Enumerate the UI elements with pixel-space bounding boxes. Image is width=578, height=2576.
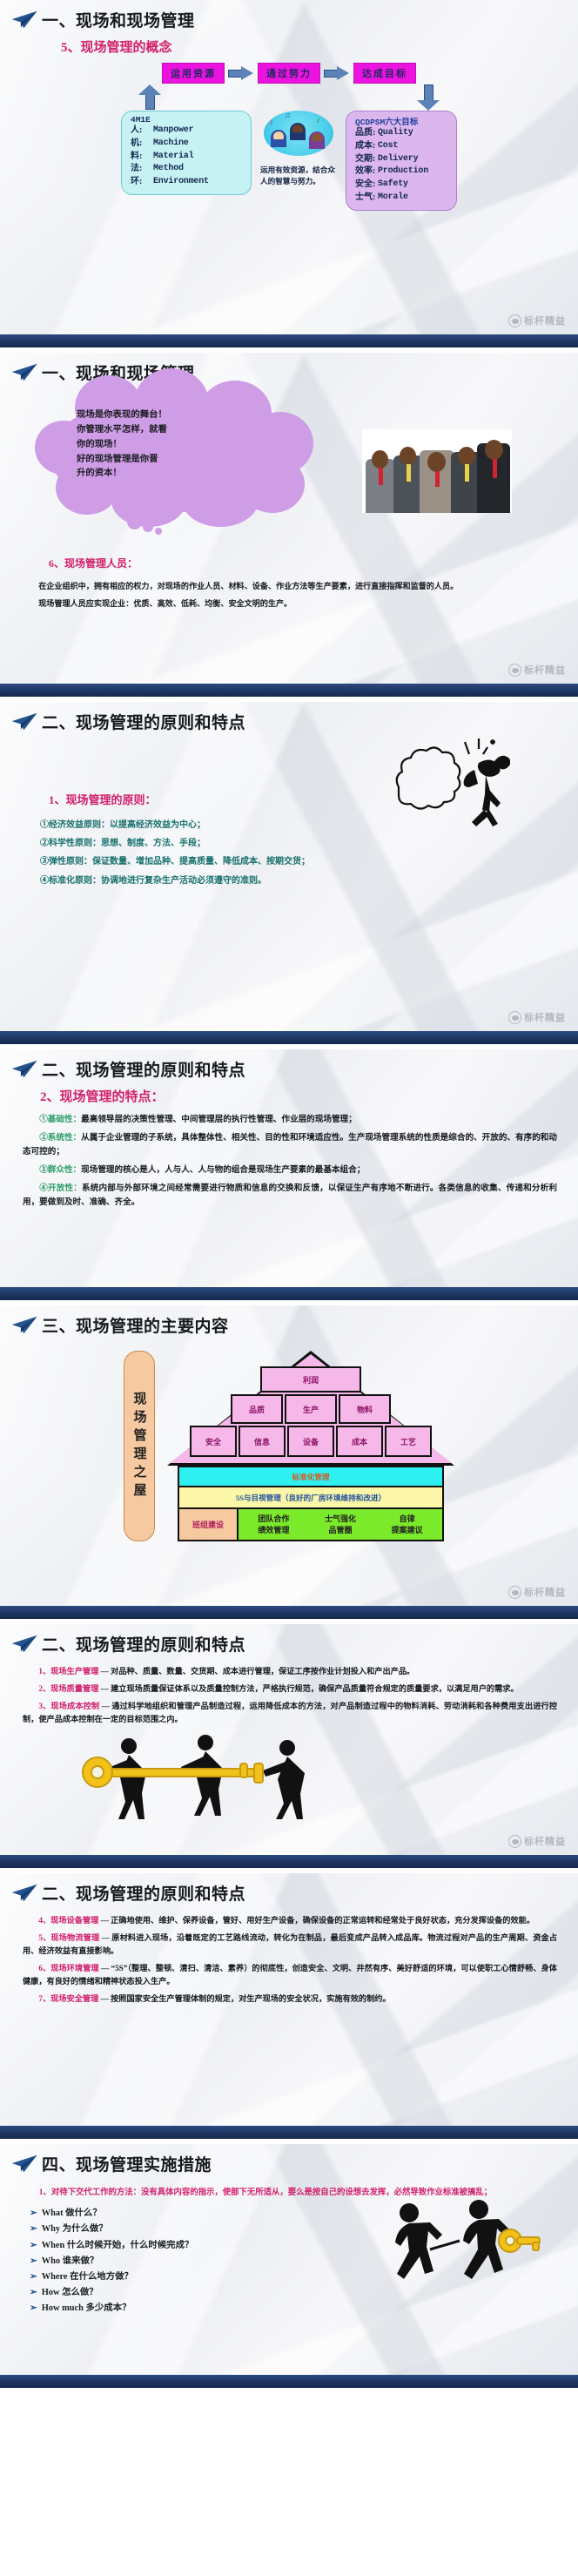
cloud-line: 升的资本！ bbox=[77, 467, 286, 482]
thought-bubble-2 bbox=[143, 522, 153, 532]
arrow-right-icon-2 bbox=[324, 67, 350, 80]
kv-val: Production bbox=[378, 165, 428, 179]
base-col: 士气强化 品管圈 bbox=[307, 1514, 374, 1535]
kv-row: 品质:Quality bbox=[355, 127, 447, 140]
kv-key: 环: bbox=[131, 176, 153, 189]
thought-cloud-text: 现场是你表现的舞台！ 你管理水平怎样，就看 你的现场！ 好的现场管理是你晋 升的… bbox=[77, 408, 286, 482]
page-title: 二、现场管理的原则和特点 bbox=[42, 1632, 245, 1656]
feature-item: ③群众性：现场管理的核心是人，人与人、人与物的组合是现场生产要素的最基本组合； bbox=[23, 1163, 557, 1177]
base-col-bottom: 品管圈 bbox=[307, 1525, 374, 1536]
card-qcdpsm-title: QCDPSM六大目标 bbox=[355, 115, 447, 127]
roof-level-bottom: 安全 信息 设备 成本 工艺 bbox=[167, 1426, 454, 1457]
kv-key: 安全: bbox=[355, 179, 378, 192]
people-illustration-group: ♪ ♫ ♪ 运用有效资源，结合众人的智慧与努力。 bbox=[257, 111, 340, 187]
people-carrying-key-icon bbox=[0, 1730, 578, 1821]
watermark-text: 标杆精益 bbox=[524, 314, 566, 327]
base-col-top: 士气强化 bbox=[307, 1514, 374, 1525]
page-title: 一、现场和现场管理 bbox=[42, 8, 195, 31]
slide-4-footer-bar bbox=[0, 1287, 578, 1300]
paper-plane-icon bbox=[10, 711, 40, 733]
wechat-watermark: 标杆精益 bbox=[508, 663, 566, 677]
person-1 bbox=[271, 130, 286, 147]
paper-plane-icon bbox=[10, 361, 40, 384]
slide-7: 二、现场管理的原则和特点 4、现场设备管理 — 正确地使用、维护、保养设备，管好… bbox=[0, 1873, 578, 2126]
flow-step-3: 达成目标 bbox=[353, 63, 416, 84]
slide-2: 一、现场和现场管理 现场是你表现的舞台！ bbox=[0, 353, 578, 684]
feature-body: 系统内部与外部环境之间经常需要进行物质和信息的交换和反馈，以保证生产有序地不断进… bbox=[23, 1183, 557, 1207]
music-note-icon: ♪ bbox=[269, 118, 273, 127]
list-item-label: How much 多少成本？ bbox=[42, 2303, 131, 2313]
card-qcdpsm: QCDPSM六大目标 品质:Quality 成本:Cost 交期:Deliver… bbox=[346, 111, 457, 211]
kv-key: 成本: bbox=[355, 140, 378, 153]
principle-item: ②科学性原则：思想、制度、方法、手段； bbox=[23, 837, 557, 851]
kv-key: 士气: bbox=[355, 192, 378, 205]
kv-row: 成本:Cost bbox=[355, 140, 447, 153]
slide-7-footer-bar bbox=[0, 2126, 578, 2139]
content-tag: 1、现场生产管理 bbox=[38, 1667, 98, 1676]
slide-4-header: 二、现场管理的原则和特点 bbox=[0, 1049, 578, 1082]
kv-val: Machine bbox=[153, 138, 189, 151]
page-title: 二、现场管理的原则和特点 bbox=[42, 1881, 245, 1905]
slide-5: 三、现场管理的主要内容 现场管理之屋 利润 品质 生产 bbox=[0, 1305, 578, 1606]
kv-row: 安全:Safety bbox=[355, 179, 447, 192]
content-item: 2、现场质量管理 — 建立现场质量保证体系以及质量控制方法，严格执行规范，确保产… bbox=[23, 1682, 557, 1696]
list-item: ➢How much 多少成本？ bbox=[30, 2301, 561, 2316]
content-tag: 6、现场环境管理 bbox=[38, 1964, 98, 1972]
card-4m1e: 4M1E 人:Manpower 机:Machine 料:Material 法:M… bbox=[121, 111, 252, 195]
bullet-arrow-icon: ➢ bbox=[30, 2224, 37, 2234]
base-columns: 团队合作 绩效管理 士气强化 品管圈 自律 提案建议 bbox=[239, 1509, 442, 1540]
running-people-icon bbox=[378, 2199, 543, 2303]
house-roof: 利润 品质 生产 物料 安全 信息 设备 成本 工艺 bbox=[167, 1351, 454, 1466]
content-item: 1、现场生产管理 — 对品种、质量、数量、交货期、成本进行管理，保证工序按作业计… bbox=[23, 1665, 557, 1678]
paper-plane-icon bbox=[10, 1314, 40, 1337]
wechat-watermark: 标杆精益 bbox=[508, 1585, 566, 1599]
flow-step-1: 运用资源 bbox=[162, 63, 225, 84]
watermark-text: 标杆精益 bbox=[524, 663, 566, 677]
watermark-text: 标杆精益 bbox=[524, 1834, 566, 1848]
content-tag: 4、现场设备管理 bbox=[38, 1916, 98, 1925]
slide-2-header: 一、现场和现场管理 bbox=[0, 353, 578, 386]
kv-val: Quality bbox=[378, 127, 413, 140]
base-col-top: 团队合作 bbox=[240, 1514, 307, 1525]
kv-row: 料:Material bbox=[131, 151, 242, 164]
slide-3-header: 二、现场管理的原则和特点 bbox=[0, 702, 578, 735]
kv-key: 法: bbox=[131, 163, 153, 176]
feature-tag: ③群众性： bbox=[39, 1165, 81, 1175]
content-item: 7、现场安全管理 — 按照国家安全生产管理体制的规定，对生产现场的安全状况，实施… bbox=[23, 1993, 557, 2006]
arrow-right-icon bbox=[228, 67, 254, 80]
kv-key: 人: bbox=[131, 125, 153, 138]
thought-cloud-area: 现场是你表现的舞台！ 你管理水平怎样，就看 你的现场！ 好的现场管理是你晋 升的… bbox=[0, 386, 578, 551]
paragraph: 在企业组织中，拥有相应的权力，对现场的作业人员、材料、设备、作业方法等生产要素，… bbox=[23, 580, 557, 593]
base-col-top: 自律 bbox=[373, 1514, 440, 1525]
kv-val: Cost bbox=[378, 140, 398, 153]
kv-key: 机: bbox=[131, 138, 153, 151]
principle-item: ③弹性原则：保证数量、增加品种、提高质量、降低成本、按期交货； bbox=[23, 855, 557, 869]
content-tag: 5、现场物流管理 bbox=[38, 1933, 99, 1942]
content-tag: 3、现场成本控制 bbox=[38, 1702, 99, 1710]
content-item: 4、现场设备管理 — 正确地使用、维护、保养设备，管好、用好生产设备，确保设备的… bbox=[23, 1914, 557, 1927]
slide-4-body: ①基础性：最高领导层的决策性管理、中间管理层的执行性管理、作业层的现场管理； ②… bbox=[0, 1105, 578, 1210]
concept-cards: 4M1E 人:Manpower 机:Machine 料:Material 法:M… bbox=[0, 111, 578, 211]
wechat-icon bbox=[508, 664, 521, 677]
content-body: — 按照国家安全生产管理体制的规定，对生产现场的安全状况，实施有效的制约。 bbox=[101, 1994, 391, 2003]
page-title: 三、现场管理的主要内容 bbox=[42, 1313, 229, 1337]
slide-6-body: 1、现场生产管理 — 对品种、质量、数量、交货期、成本进行管理，保证工序按作业计… bbox=[0, 1657, 578, 1726]
content-item: 6、现场环境管理 — “5S”（整理、整顿、清扫、清洁、素养）的彻底性，创造安全… bbox=[23, 1962, 557, 1988]
roof-level-mid: 品质 生产 物料 bbox=[167, 1394, 454, 1424]
feature-item: ④开放性：系统内部与外部环境之间经常需要进行物质和信息的交换和反馈，以保证生产有… bbox=[23, 1182, 557, 1210]
singing-people-icon: ♪ ♫ ♪ bbox=[259, 111, 339, 165]
slide-4-heading: 2、现场管理的特点： bbox=[0, 1082, 578, 1105]
kv-row: 机:Machine bbox=[131, 138, 242, 151]
bullet-arrow-icon: ➢ bbox=[30, 2208, 37, 2218]
slide-8-footer-bar bbox=[0, 2375, 578, 2388]
list-item-label: Where 在什么地方做？ bbox=[42, 2272, 133, 2282]
kv-row: 士气:Morale bbox=[355, 192, 447, 205]
slide-2-body: 在企业组织中，拥有相应的权力，对现场的作业人员、材料、设备、作业方法等生产要素，… bbox=[0, 570, 578, 610]
slide-7-body: 4、现场设备管理 — 正确地使用、维护、保养设备，管好、用好生产设备，确保设备的… bbox=[0, 1906, 578, 2005]
page-title: 四、现场管理实施措施 bbox=[42, 2152, 212, 2175]
bullet-arrow-icon: ➢ bbox=[30, 2288, 37, 2297]
slide-7-header: 二、现场管理的原则和特点 bbox=[0, 1873, 578, 1906]
kv-row: 法:Method bbox=[131, 163, 242, 176]
feature-item: ②系统性：从属于企业管理的子系统，具体整体性、相关性、目的性和环境适应性。生产现… bbox=[23, 1131, 557, 1159]
base-col: 团队合作 绩效管理 bbox=[240, 1514, 307, 1535]
content-tag: 2、现场质量管理 bbox=[38, 1684, 98, 1693]
slide-1-header: 一、现场和现场管理 bbox=[0, 0, 578, 33]
house-base: 班组建设 团队合作 绩效管理 士气强化 品管圈 bbox=[178, 1509, 444, 1541]
content-body: — 建立现场质量保证体系以及质量控制方法，严格执行规范，确保产品质量符合规定的质… bbox=[101, 1684, 519, 1693]
kv-row: 效率:Production bbox=[355, 165, 447, 179]
kv-val: Delivery bbox=[378, 153, 418, 166]
paper-plane-icon bbox=[10, 1058, 40, 1081]
content-body: — 正确地使用、维护、保养设备，管好、用好生产设备，确保设备的正常运转和经常处于… bbox=[101, 1916, 534, 1925]
flow-step-2: 通过努力 bbox=[258, 63, 320, 84]
band-5s: 5S与目视管理（良好的厂房环境维持和改进） bbox=[178, 1487, 444, 1509]
wechat-icon bbox=[508, 1586, 521, 1599]
feature-body: 现场管理的核心是人，人与人、人与物的组合是现场生产要素的最基本组合； bbox=[81, 1165, 365, 1175]
slide-3: 二、现场管理的原则和特点 1、现场管理的原则： bbox=[0, 702, 578, 1031]
roof-cell: 工艺 bbox=[385, 1426, 432, 1457]
slide-2-heading: 6、现场管理人员： bbox=[0, 551, 578, 570]
businessmen-photo bbox=[362, 429, 512, 513]
bullet-arrow-icon: ➢ bbox=[30, 2272, 37, 2282]
base-col: 自律 提案建议 bbox=[373, 1514, 440, 1535]
arrow-down-icon bbox=[417, 84, 440, 111]
feature-body: 从属于企业管理的子系统，具体整体性、相关性、目的性和环境适应性。生产现场管理系统… bbox=[23, 1133, 557, 1157]
house-pillar: 现场管理之屋 bbox=[124, 1351, 155, 1541]
watermark-text: 标杆精益 bbox=[524, 1585, 566, 1599]
slide-8-header: 四、现场管理实施措施 bbox=[0, 2144, 578, 2177]
slide-5-header: 三、现场管理的主要内容 bbox=[0, 1305, 578, 1339]
paragraph: 现场管理人员应实现企业：优质、高效、低耗、均衡、安全文明的生产。 bbox=[23, 597, 557, 610]
feature-tag: ①基础性： bbox=[39, 1115, 81, 1124]
list-item-label: What 做什么？ bbox=[42, 2208, 102, 2218]
content-body: — “5S”（整理、整顿、清扫、清洁、素养）的彻底性，创造安全、文明、井然有序、… bbox=[23, 1964, 557, 1986]
paper-plane-icon bbox=[10, 1882, 40, 1905]
kv-key: 效率: bbox=[355, 165, 378, 179]
kv-key: 品质: bbox=[355, 127, 378, 140]
kv-val: Safety bbox=[378, 179, 408, 192]
slide-3-footer-bar bbox=[0, 1031, 578, 1044]
base-col-bottom: 提案建议 bbox=[373, 1525, 440, 1536]
slide-8-heading: 1、对待下交代工作的方法：没有具体内容的指示，使部下无所适从，要么是按自己的设想… bbox=[0, 2177, 578, 2200]
kv-row: 环:Environment bbox=[131, 176, 242, 189]
slide-8: 四、现场管理实施措施 1、对待下交代工作的方法：没有具体内容的指示，使部下无所适… bbox=[0, 2144, 578, 2375]
bullet-arrow-icon: ➢ bbox=[30, 2303, 37, 2313]
roof-cell: 安全 bbox=[190, 1426, 237, 1457]
slide-5-footer-bar bbox=[0, 1606, 578, 1619]
kv-key: 交期: bbox=[355, 153, 378, 166]
person-3 bbox=[309, 131, 325, 149]
card-4m1e-title: 4M1E bbox=[131, 115, 242, 125]
wechat-icon bbox=[508, 1835, 521, 1848]
slide-6-header: 二、现场管理的原则和特点 bbox=[0, 1624, 578, 1657]
roof-cell: 生产 bbox=[285, 1394, 337, 1424]
slide-1: 一、现场和现场管理 5、现场管理的概念 运用资源 通过努力 达成目标 bbox=[0, 0, 578, 334]
house-pillar-label: 现场管理之屋 bbox=[131, 1392, 149, 1501]
roof-cell: 设备 bbox=[287, 1426, 334, 1457]
house-diagram: 现场管理之屋 利润 品质 生产 物料 bbox=[0, 1339, 578, 1550]
kv-val: Method bbox=[153, 163, 184, 176]
content-body: — 通过科学地组织和管理产品制造过程，运用降低成本的方法，对产品制造过程中的物料… bbox=[23, 1702, 557, 1723]
page-title: 二、现场管理的原则和特点 bbox=[42, 710, 245, 733]
roof-cell: 信息 bbox=[239, 1426, 286, 1457]
kv-val: Morale bbox=[378, 192, 408, 205]
wechat-icon bbox=[508, 314, 521, 327]
content-body: — 原材料进入现场，沿着既定的工艺路线流动，转化为在制品，最后变成产品转入成品库… bbox=[23, 1933, 557, 1955]
content-body: — 对品种、质量、数量、交货期、成本进行管理，保证工序按作业计划投入和产出产品。 bbox=[101, 1667, 415, 1676]
content-tag: 7、现场安全管理 bbox=[38, 1994, 98, 2003]
slide-4: 二、现场管理的原则和特点 2、现场管理的特点： ①基础性：最高领导层的决策性管理… bbox=[0, 1049, 578, 1287]
list-item-label: Why 为什么做？ bbox=[42, 2224, 108, 2234]
base-col-bottom: 绩效管理 bbox=[240, 1525, 307, 1536]
page-title: 二、现场管理的原则和特点 bbox=[42, 1057, 245, 1081]
principle-item: ④标准化原则：协调地进行复杂生产活动必须遵守的准则。 bbox=[23, 874, 557, 888]
content-item: 3、现场成本控制 — 通过科学地组织和管理产品制造过程，运用降低成本的方法，对产… bbox=[23, 1700, 557, 1726]
house-body: 利润 品质 生产 物料 安全 信息 设备 成本 工艺 bbox=[167, 1351, 454, 1541]
thought-bubble-3 bbox=[155, 528, 162, 535]
feature-item: ①基础性：最高领导层的决策性管理、中间管理层的执行性管理、作业层的现场管理； bbox=[23, 1113, 557, 1127]
band-standardization: 标准化管理 bbox=[178, 1466, 444, 1487]
feature-tag: ④开放性： bbox=[39, 1183, 82, 1193]
cloud-line: 好的现场管理是你晋 bbox=[77, 453, 286, 468]
kv-val: Material bbox=[153, 151, 193, 164]
paper-plane-icon bbox=[10, 9, 40, 31]
cloud-line: 你管理水平怎样，就看 bbox=[77, 423, 286, 438]
kv-val: Environment bbox=[153, 176, 209, 189]
roof-cell: 物料 bbox=[339, 1394, 391, 1424]
arrow-up-icon bbox=[138, 84, 161, 111]
music-note-icon-2: ♫ bbox=[285, 111, 291, 119]
kv-val: Manpower bbox=[153, 125, 193, 138]
kv-row: 人:Manpower bbox=[131, 125, 242, 138]
paper-plane-icon bbox=[10, 1633, 40, 1656]
kv-key: 料: bbox=[131, 151, 153, 164]
watermark-text: 标杆精益 bbox=[524, 1010, 566, 1024]
person-2 bbox=[290, 123, 306, 140]
feature-tag: ②系统性： bbox=[39, 1133, 81, 1143]
bullet-arrow-icon: ➢ bbox=[30, 2256, 37, 2266]
slide-deck: 一、现场和现场管理 5、现场管理的概念 运用资源 通过努力 达成目标 bbox=[0, 0, 578, 2388]
list-item-label: Who 谁来做？ bbox=[42, 2256, 99, 2266]
wechat-icon bbox=[508, 1011, 521, 1024]
paper-plane-icon bbox=[10, 2153, 40, 2175]
wechat-watermark: 标杆精益 bbox=[508, 1834, 566, 1848]
center-note: 运用有效资源，结合众人的智慧与努力。 bbox=[260, 165, 337, 187]
roof-cell-profit: 利润 bbox=[260, 1366, 361, 1393]
list-item-label: How 怎么做？ bbox=[42, 2288, 98, 2297]
music-note-icon-3: ♪ bbox=[316, 116, 320, 125]
wechat-watermark: 标杆精益 bbox=[508, 1010, 566, 1024]
content-item: 5、现场物流管理 — 原材料进入现场，沿着既定的工艺路线流动，转化为在制品，最后… bbox=[23, 1932, 557, 1958]
feature-body: 最高领导层的决策性管理、中间管理层的执行性管理、作业层的现场管理； bbox=[81, 1115, 357, 1124]
flow-diagram: 运用资源 通过努力 达成目标 bbox=[0, 63, 578, 84]
cloud-line: 现场是你表现的舞台！ bbox=[77, 408, 286, 423]
base-team-building: 班组建设 bbox=[179, 1509, 239, 1540]
slide-6: 二、现场管理的原则和特点 1、现场生产管理 — 对品种、质量、数量、交货期、成本… bbox=[0, 1624, 578, 1855]
cloud-line: 你的现场！ bbox=[77, 438, 286, 453]
bullet-arrow-icon: ➢ bbox=[30, 2241, 37, 2250]
thought-bubble-1 bbox=[127, 515, 142, 529]
roof-level-top: 利润 bbox=[167, 1366, 454, 1393]
slide-6-footer-bar bbox=[0, 1855, 578, 1868]
flow-vertical-arrows bbox=[0, 84, 578, 111]
roof-cell: 成本 bbox=[336, 1426, 383, 1457]
roof-cell: 品质 bbox=[231, 1394, 283, 1424]
list-item-label: When 什么时候开始，什么时候完成？ bbox=[42, 2241, 194, 2250]
frustrated-person-icon bbox=[388, 737, 510, 833]
slide-1-footer-bar bbox=[0, 334, 578, 347]
slide-2-footer-bar bbox=[0, 684, 578, 697]
slide-1-subtitle: 5、现场管理的概念 bbox=[0, 33, 578, 56]
kv-row: 交期:Delivery bbox=[355, 153, 447, 166]
wechat-watermark: 标杆精益 bbox=[508, 314, 566, 327]
